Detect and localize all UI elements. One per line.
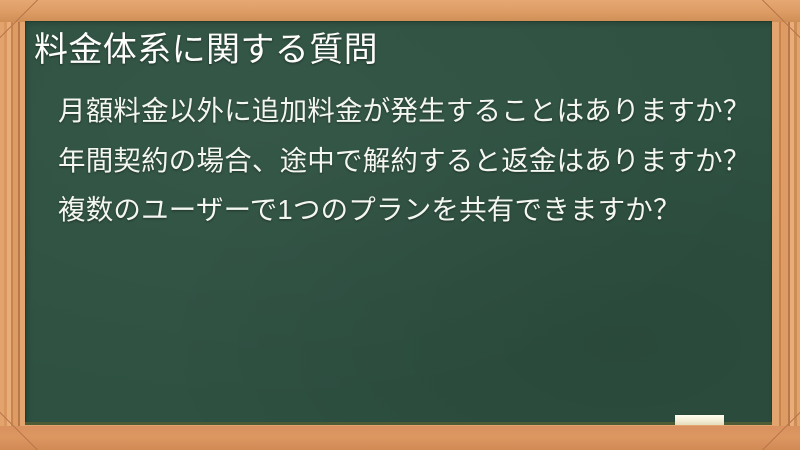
chalk-stick-icon	[675, 415, 724, 425]
board-bottom-edge	[25, 422, 772, 425]
list-item: 複数のユーザーで1つのプランを共有できますか？	[34, 190, 758, 231]
frame-bottom-rail	[0, 426, 800, 450]
frame-top-rail	[0, 0, 800, 22]
list-item: 年間契約の場合、途中で解約すると返金はありますか？	[34, 141, 758, 182]
chalkboard-slide: 料金体系に関する質問 月額料金以外に追加料金が発生することはありますか？ 年間契…	[0, 0, 800, 450]
question-list: 月額料金以外に追加料金が発生することはありますか？ 年間契約の場合、途中で解約す…	[34, 91, 758, 240]
slide-title: 料金体系に関する質問	[34, 29, 734, 73]
chalkboard-surface: 料金体系に関する質問 月額料金以外に追加料金が発生することはありますか？ 年間契…	[25, 21, 772, 425]
list-item: 月額料金以外に追加料金が発生することはありますか？	[34, 91, 758, 132]
frame-right-rail	[772, 0, 800, 450]
